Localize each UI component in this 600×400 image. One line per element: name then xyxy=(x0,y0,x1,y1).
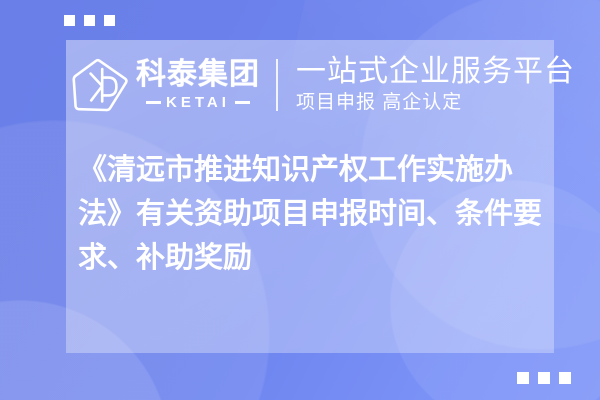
tagline-secondary: 项目申报 高企认定 xyxy=(296,91,575,116)
square-dot-icon xyxy=(104,15,115,26)
vertical-divider xyxy=(276,59,278,111)
brand-name-cn: 科泰集团 xyxy=(136,59,260,91)
brand-name-latin: KETAI xyxy=(166,94,230,111)
tagline-primary: 一站式企业服务平台 xyxy=(296,54,575,89)
decorative-dots-bottom-right xyxy=(517,372,571,384)
square-dot-icon xyxy=(84,15,95,26)
square-dot-icon xyxy=(538,372,550,384)
decorative-dots-top-left xyxy=(64,15,115,26)
square-dot-icon xyxy=(64,15,75,26)
poster-headline: 《清远市推进知识产权工作实施办法》有关资助项目申报时间、条件要求、补助奖励 xyxy=(78,148,548,280)
square-dot-icon xyxy=(559,372,571,384)
brand-header: 科泰集团 KETAI 一站式企业服务平台 项目申报 高企认定 xyxy=(66,45,554,125)
tagline-group: 一站式企业服务平台 项目申报 高企认定 xyxy=(296,54,575,116)
wordmark-rule-right-icon xyxy=(235,101,250,104)
brand-logo[interactable]: 科泰集团 KETAI xyxy=(72,56,260,114)
brand-latin-row: KETAI xyxy=(146,94,250,111)
ketai-diamond-kd-monogram-icon xyxy=(72,56,130,114)
brand-wordmark: 科泰集团 KETAI xyxy=(136,59,260,111)
poster-canvas: 科泰集团 KETAI 一站式企业服务平台 项目申报 高企认定 《清远市推进知识产… xyxy=(0,0,600,400)
wordmark-rule-left-icon xyxy=(146,101,161,104)
square-dot-icon xyxy=(517,372,529,384)
content-card: 科泰集团 KETAI 一站式企业服务平台 项目申报 高企认定 《清远市推进知识产… xyxy=(66,40,554,353)
